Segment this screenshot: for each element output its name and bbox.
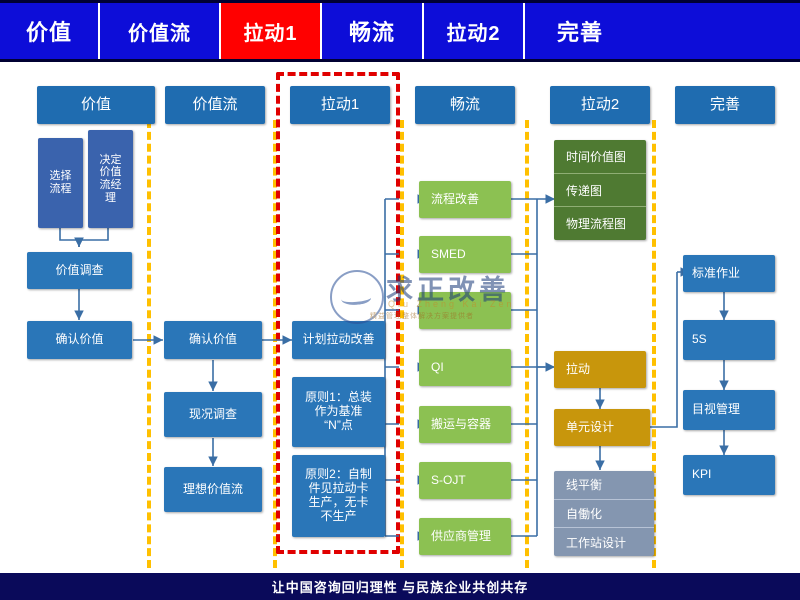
node-ideal-value-stream: 理想价值流 — [164, 467, 262, 512]
node-cell-design: 单元设计 — [554, 409, 650, 446]
column-header-value-stream: 价值流 — [165, 86, 265, 124]
node-5s: 5S — [683, 320, 775, 360]
column-header-perfect: 完善 — [675, 86, 775, 124]
column-header-flow: 畅流 — [415, 86, 515, 124]
node-flow-supplier: 供应商管理 — [419, 518, 511, 555]
phase-tab-label: 畅流 — [349, 15, 395, 47]
group-maps: 时间价值图传递图物理流程图 — [554, 140, 646, 240]
node-plan-pull-improvement: 计划拉动改善 — [292, 321, 385, 359]
phase-tab-label: 完善 — [557, 15, 603, 47]
cell-subtopic-item: 工作站设计 — [554, 527, 654, 556]
phase-tab-6[interactable]: 完善 — [525, 3, 635, 59]
node-kpi: KPI — [683, 455, 775, 495]
footer-banner: 让中国咨询回归理性 与民族企业共创共存 — [0, 573, 800, 600]
node-principle-2: 原则2：自制件见拉动卡生产，无卡不生产 — [292, 455, 385, 537]
node-select-process: 选择流程 — [38, 138, 83, 228]
phase-tab-4[interactable]: 畅流 — [322, 3, 424, 59]
map-item: 传递图 — [554, 173, 646, 207]
phase-tab-label: 价值流 — [128, 17, 191, 46]
phase-tab-1[interactable]: 价值 — [0, 3, 100, 59]
node-value-survey: 价值调查 — [27, 252, 132, 289]
lane-divider-3 — [400, 120, 404, 568]
phase-tab-2[interactable]: 价值流 — [100, 3, 221, 59]
watermark-slogan: 精益管理整体解决方案提供者 — [370, 311, 474, 321]
watermark: 求正改善 Qiu Zheng Kai Zen 精益管理整体解决方案提供者 — [330, 266, 530, 326]
cell-subtopic-item: 线平衡 — [554, 471, 654, 499]
map-item: 物理流程图 — [554, 206, 646, 240]
phase-tab-5[interactable]: 拉动2 — [424, 3, 525, 59]
column-header-value: 价值 — [37, 86, 155, 124]
lane-divider-4 — [525, 120, 529, 568]
phase-tab-label: 拉动1 — [243, 17, 297, 46]
group-cell-subtopics: 线平衡自働化工作站设计 — [554, 471, 654, 556]
node-flow-handling: 搬运与容器 — [419, 406, 511, 443]
node-flow-sojt: S-OJT — [419, 462, 511, 499]
phase-tab-label: 拉动2 — [446, 17, 500, 46]
phase-tab-label: 价值 — [26, 15, 72, 47]
node-pull: 拉动 — [554, 351, 646, 388]
footer-text: 让中国咨询回归理性 与民族企业共创共存 — [272, 577, 529, 596]
map-item: 时间价值图 — [554, 140, 646, 173]
node-flow-process-improve: 流程改善 — [419, 181, 511, 218]
node-flow-qi: QI — [419, 349, 511, 386]
node-decide-vsm-owner: 决定价值流经理 — [88, 130, 133, 228]
phase-tab-3[interactable]: 拉动1 — [221, 3, 322, 59]
column-header-pull1: 拉动1 — [290, 86, 390, 124]
node-standard-work: 标准作业 — [683, 255, 775, 292]
phase-bar: 价值价值流拉动1畅流拉动2完善 — [0, 0, 800, 62]
node-visual-management: 目视管理 — [683, 390, 775, 430]
cell-subtopic-item: 自働化 — [554, 499, 654, 528]
node-current-survey: 现况调查 — [164, 392, 262, 437]
node-confirm-value-c2: 确认价值 — [164, 321, 262, 359]
slide-canvas: 价值价值流拉动1畅流拉动2完善 — [0, 0, 800, 600]
watermark-pinyin: Qiu Zheng Kai Zen — [388, 299, 515, 309]
node-principle-1: 原则1：总装作为基准“N”点 — [292, 377, 385, 447]
lane-divider-1 — [147, 120, 151, 568]
column-header-pull2: 拉动2 — [550, 86, 650, 124]
node-confirm-value-c1: 确认价值 — [27, 321, 132, 359]
